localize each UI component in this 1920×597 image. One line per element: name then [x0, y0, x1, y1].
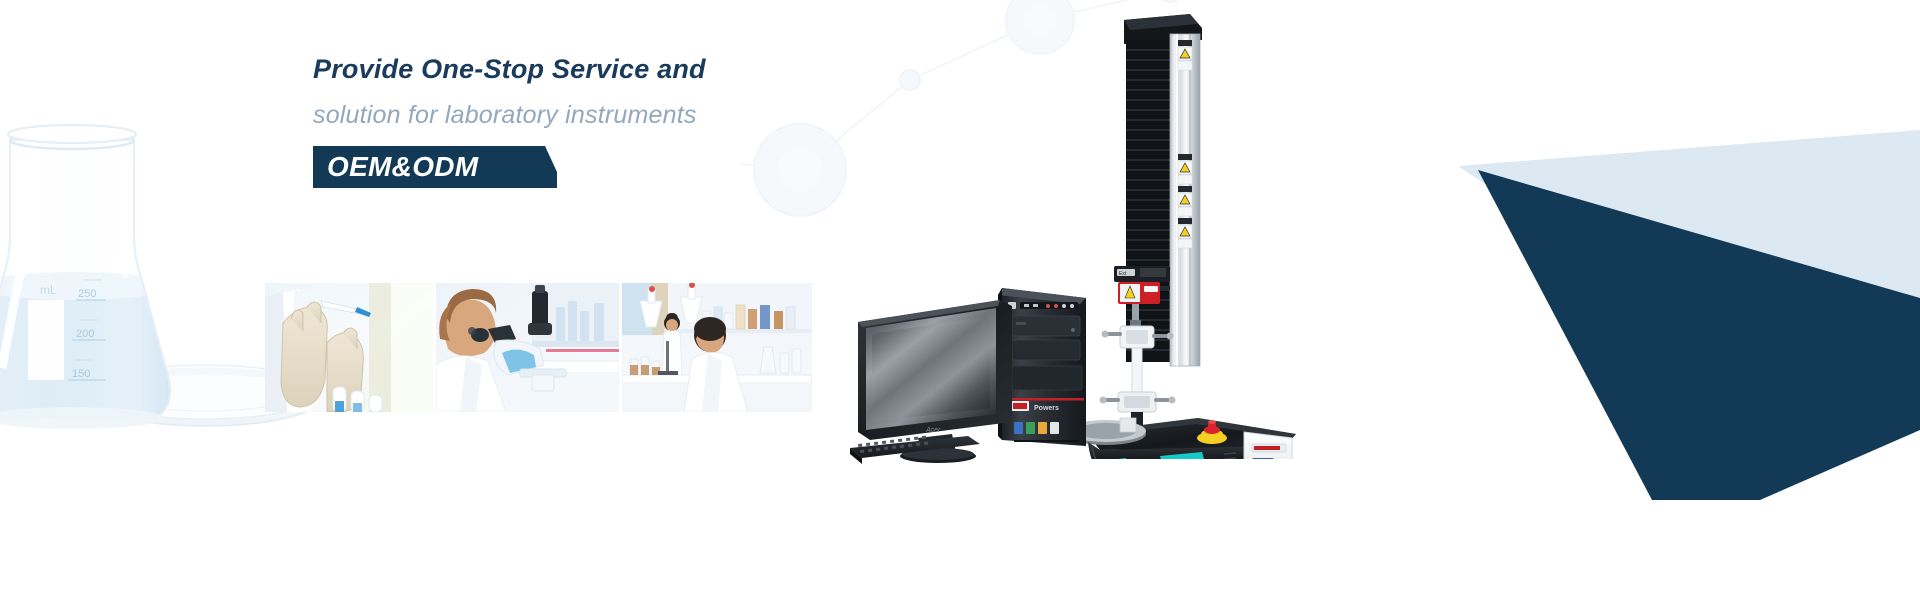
- headline-line-1: Provide One-Stop Service and: [313, 56, 933, 83]
- thumbnail-microscope: [436, 283, 619, 412]
- banner-root: 250 200 150 mL Provide One-Stop Service …: [0, 0, 1920, 597]
- erlenmeyer-flask-shape: 250 200 150 mL: [0, 125, 200, 446]
- lcd-monitor-shape: Acer: [858, 300, 1012, 463]
- thumbnail-lab-technicians: [622, 283, 812, 412]
- svg-text:150: 150: [72, 368, 90, 380]
- thumbnail-pipetting: [265, 283, 433, 412]
- svg-text:Acer: Acer: [925, 427, 941, 434]
- oem-odm-tag: OEM&ODM: [313, 146, 536, 188]
- svg-text:200: 200: [76, 328, 94, 340]
- headline-block: Provide One-Stop Service and solution fo…: [313, 56, 933, 188]
- svg-text:Ext: Ext: [1119, 271, 1127, 277]
- thumbnail-strip: [265, 283, 812, 412]
- svg-text:250: 250: [78, 288, 96, 300]
- oem-odm-tag-label: OEM&ODM: [313, 146, 536, 188]
- svg-text:mL: mL: [40, 283, 57, 297]
- svg-text:Powers: Powers: [1034, 405, 1059, 412]
- desktop-computer-illustration: Powers Acer: [848, 280, 1118, 465]
- decorative-arrow-shapes: [1200, 100, 1920, 500]
- headline-line-2: solution for laboratory instruments: [313, 103, 933, 128]
